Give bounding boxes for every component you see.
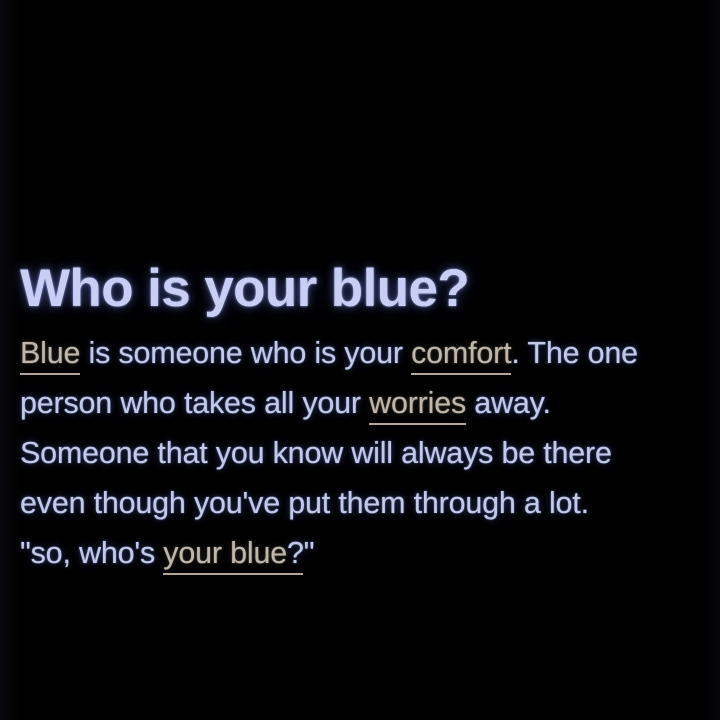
quote-text: person who takes all your [20,386,369,420]
quote-card: Who is your blue? Blue is someone who is… [20,258,706,578]
quote-line: even though you've put them through a lo… [20,478,706,528]
quote-line: Someone that you know will always be the… [20,428,706,478]
quote-line: person who takes all your worries away. [20,378,706,428]
quote-text: Someone that you know will always be the… [20,436,612,470]
quote-headline: Who is your blue? [20,258,706,320]
quote-line: Blue is someone who is your comfort. The… [20,328,706,378]
underlined-keyword: your blue [163,536,303,575]
quote-text: "so, who's [20,536,163,570]
quote-text: ?" [287,536,314,570]
quote-text: . The one [511,336,638,370]
underlined-keyword: worries [369,386,466,425]
underlined-keyword: Blue [20,336,80,375]
quote-text: even though you've put them through a lo… [20,486,589,520]
quote-text: is someone who is your [80,336,411,370]
quote-line: "so, who's your blue?" [20,528,706,578]
quote-body: Blue is someone who is your comfort. The… [20,328,706,578]
quote-image-canvas: Who is your blue? Blue is someone who is… [0,0,720,720]
quote-text: away. [466,386,551,420]
underlined-keyword: comfort [411,336,511,375]
